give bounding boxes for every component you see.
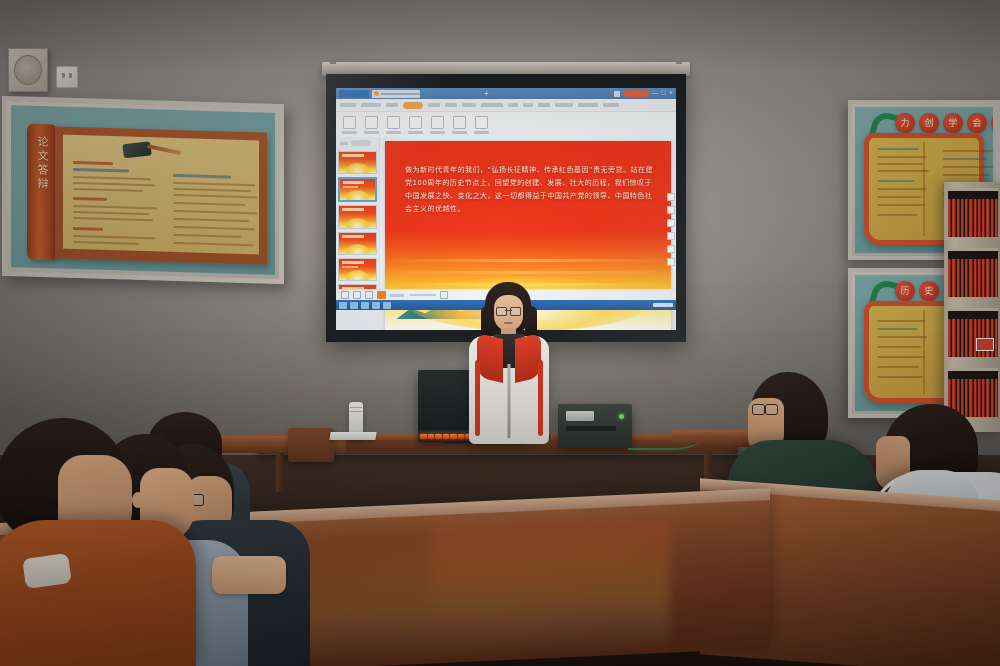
slide-thumbnail-panel[interactable] [336,137,380,310]
scroll-title: 论文答辩 [34,136,50,192]
shelf-row [948,308,998,357]
attendee-orange-jacket-body [0,520,196,666]
presenter-sleeve-stripe-left [475,360,480,436]
rail-icon-more[interactable] [667,258,675,266]
board-dot: 历 [895,281,915,301]
taskbar-icon[interactable] [361,302,369,309]
account-pill[interactable] [623,90,649,97]
classroom-scene: 论文答辩 [0,0,1000,666]
ribbon-tabs[interactable] [336,99,676,112]
ribbon-tab-selected[interactable] [403,102,423,109]
rail-icon-chart[interactable] [667,232,675,240]
attendee-blue-shirt-hands [212,556,286,594]
speaker-cone-icon [14,55,42,85]
fit-slide-icon[interactable] [440,291,448,299]
app-tab-active[interactable] [339,90,369,98]
file-icon [374,91,379,96]
slide-thumbnail[interactable] [338,258,377,281]
minimize-button[interactable]: — [652,90,659,97]
scroll-poster-inner: 论文答辩 [11,105,275,275]
tool-arrange[interactable] [474,116,489,134]
close-button[interactable]: × [669,90,673,97]
scroll-roll: 论文答辩 [27,124,57,261]
presenter-glasses-icon [496,307,521,314]
rail-icon-design[interactable] [667,193,675,201]
board-dot: 不 [991,113,993,133]
slide-thumbnail[interactable] [338,151,377,174]
status-icon-sorter[interactable] [353,291,361,299]
thumbnail-panel-header [338,140,377,148]
status-icon-reading[interactable] [365,291,373,299]
scroll-poster-frame: 论文答辩 [2,96,284,284]
scroll-body [55,126,267,264]
board-upper-dots: 力 创 学 会 不 [895,113,993,133]
slideshow-button[interactable] [377,291,386,299]
rail-icon-animate[interactable] [667,206,675,214]
presenter-sleeve-stripe-right [538,360,543,436]
bookshelf [944,182,1000,432]
maximize-button[interactable]: □ [662,90,666,97]
taskbar-icon[interactable] [383,302,391,309]
taskbar-start-icon[interactable] [339,302,347,309]
presenter-zipper [508,364,511,438]
board-dot: 学 [943,113,963,133]
tool-shape[interactable] [452,116,467,134]
pc-tower [558,404,632,448]
tool-layout[interactable] [386,116,401,134]
rail-icon-image[interactable] [667,219,675,227]
shelf-label [976,338,994,351]
new-tab-button[interactable]: + [484,90,489,98]
ribbon-toolbar[interactable] [336,112,676,139]
shelf-row [948,188,998,237]
slide-body-text: 做为新时代青年的我们，“弘扬长征精神、传承红色基因”责无旁贷。站在建党100周年… [405,163,655,215]
power-cable [628,424,700,450]
slide-thumbnail[interactable] [338,205,377,228]
taskbar-icon[interactable] [350,302,358,309]
desk-leg [276,452,284,492]
attendee-orange-jacket-tshirt [22,553,72,589]
scroll-paper [63,135,259,255]
tool-section[interactable] [408,116,423,134]
board-dot: 会 [967,113,987,133]
tool-newslide[interactable] [364,116,379,134]
stack-of-papers [329,432,376,440]
wall-speaker [8,48,48,92]
wall-outlet[interactable] [56,66,78,88]
chair-back [288,428,334,462]
board-dot: 史 [919,281,939,301]
tool-paste[interactable] [342,116,357,134]
taskbar-icon[interactable] [372,302,380,309]
app-tab-file[interactable] [372,90,420,98]
rail-icon-text[interactable] [667,245,675,253]
right-tool-rail[interactable] [666,189,675,288]
board-lower-dots: 历 史 [895,281,939,301]
board-dot: 创 [919,113,939,133]
help-icon[interactable] [614,91,620,97]
slide-thumbnail-selected[interactable] [338,177,377,202]
presenter [463,282,555,452]
status-icon-normal[interactable] [341,291,349,299]
slide-thumbnail[interactable] [338,232,377,255]
shelf-row [948,248,998,297]
tower-drive-panel [566,411,594,421]
attendee-blue-shirt-ear [132,492,144,508]
power-led-icon [619,414,624,419]
tower-vent [566,426,616,431]
brush-icon [147,144,181,155]
presenter-collar-left [477,333,503,383]
zoom-slider[interactable] [410,294,436,296]
window-titlebar: + — □ × [336,88,676,99]
attendee-green-jacket-glasses-icon [752,404,778,413]
board-dot: 力 [895,113,915,133]
window-controls: — □ × [614,90,673,97]
tool-font[interactable] [430,116,445,134]
presenter-mouth [504,322,513,324]
taskbar-clock[interactable] [653,303,673,307]
